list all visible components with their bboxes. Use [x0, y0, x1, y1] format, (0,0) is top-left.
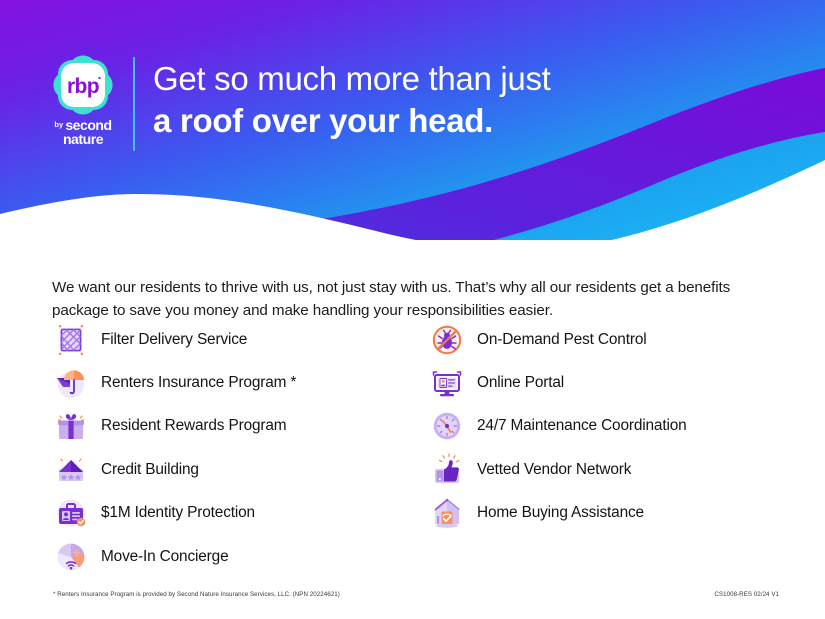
headline-line-1: Get so much more than just [153, 58, 773, 100]
benefit-label: On-Demand Pest Control [477, 331, 647, 349]
online-portal-icon [428, 364, 466, 402]
brand-logo: rbp bysecond nature [46, 54, 120, 150]
benefit-label: $1M Identity Protection [101, 504, 255, 522]
benefit-item: Resident Rewards Program [52, 405, 422, 448]
benefit-item: Home Buying Assistance [428, 492, 808, 535]
benefit-item: Online Portal [428, 361, 808, 404]
benefit-item: Filter Delivery Service [52, 318, 422, 361]
home-buying-icon [428, 494, 466, 532]
benefit-label: Home Buying Assistance [477, 504, 644, 522]
logo-by-label: by [54, 121, 63, 129]
benefit-item: Move-In Concierge [52, 535, 422, 578]
benefit-label: Filter Delivery Service [101, 331, 247, 349]
intro-paragraph: We want our residents to thrive with us,… [52, 277, 758, 323]
pest-control-icon [428, 321, 466, 359]
header-divider [133, 57, 135, 151]
benefit-item: $1M Identity Protection [52, 492, 422, 535]
benefit-item: On-Demand Pest Control [428, 318, 808, 361]
headline-line-2: a roof over your head. [153, 100, 773, 141]
credit-badge-icon [52, 451, 90, 489]
move-in-concierge-icon [52, 538, 90, 576]
logo-nature-label: nature [46, 132, 120, 146]
benefits-column-right: On-Demand Pest Control [428, 318, 808, 535]
benefit-label: Vetted Vendor Network [477, 461, 631, 479]
benefit-item: 24/7 Maintenance Coordination [428, 405, 808, 448]
benefit-item: Renters Insurance Program * [52, 361, 422, 404]
benefit-label: 24/7 Maintenance Coordination [477, 417, 687, 435]
umbrella-insurance-icon [52, 364, 90, 402]
flyer-page: rbp bysecond nature Get so much more tha… [0, 0, 825, 619]
benefit-label: Online Portal [477, 374, 564, 392]
thumbs-up-icon [428, 451, 466, 489]
rbp-logo-mark: rbp [52, 54, 114, 116]
benefit-item: Credit Building [52, 448, 422, 491]
footnote-text: * Renters Insurance Program is provided … [53, 591, 340, 598]
hero-banner: rbp bysecond nature Get so much more tha… [0, 0, 825, 240]
filter-icon [52, 321, 90, 359]
brand-logo-subtext: bysecond nature [46, 117, 120, 147]
page-headline: Get so much more than just a roof over y… [153, 58, 773, 141]
clock-icon [428, 407, 466, 445]
benefit-label: Resident Rewards Program [101, 417, 286, 435]
gift-icon [52, 407, 90, 445]
benefits-column-left: Filter Delivery Service Renters Insuranc… [52, 318, 422, 578]
benefit-item: Vetted Vendor Network [428, 448, 808, 491]
rbp-logo-icon: rbp [52, 54, 114, 116]
document-code: CS1008-RES 02/24 V1 [714, 591, 779, 598]
benefit-label: Credit Building [101, 461, 199, 479]
benefit-label: Renters Insurance Program * [101, 374, 296, 392]
svg-text:rbp: rbp [67, 75, 99, 98]
logo-second-label: second [65, 118, 111, 132]
id-protection-icon [52, 494, 90, 532]
benefit-label: Move-In Concierge [101, 548, 228, 566]
